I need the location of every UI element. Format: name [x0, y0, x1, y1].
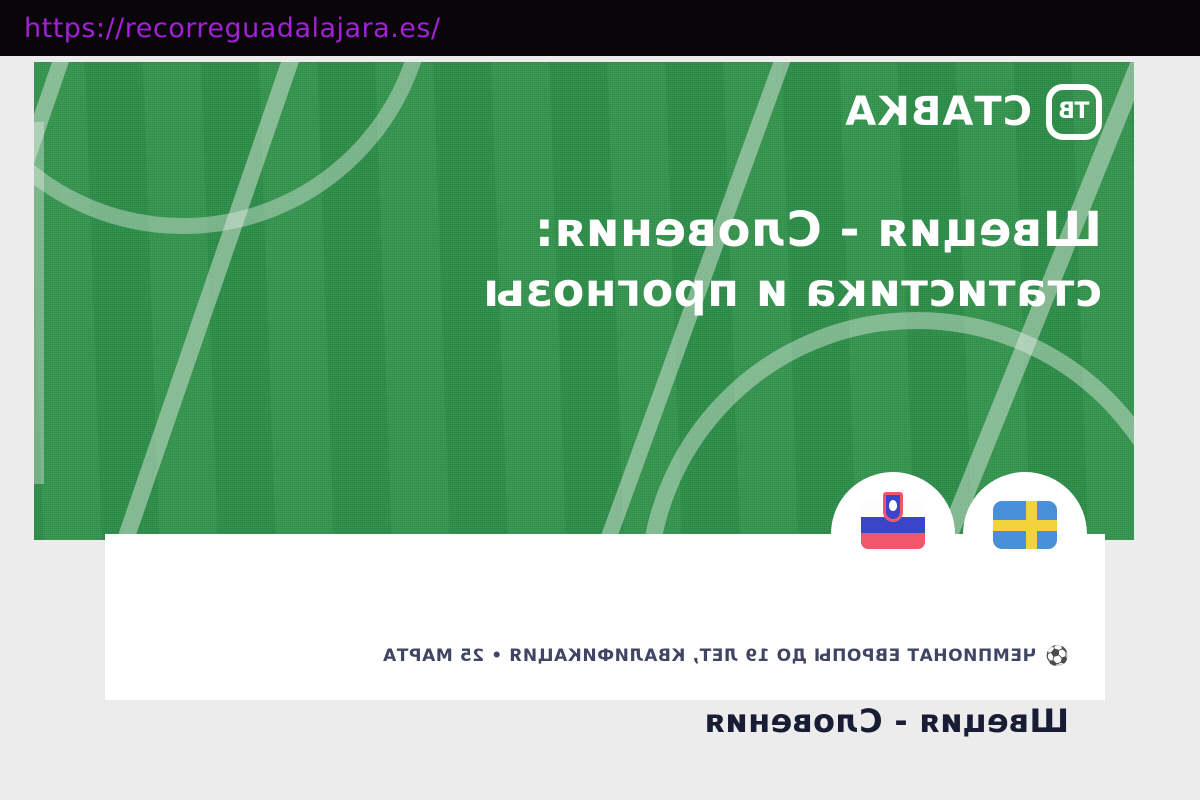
- match-card: ⚽ ЧЕМПИОНАТ ЕВРОПЫ ДО 19 ЛЕТ, КВАЛИФИКАЦ…: [105, 534, 1105, 700]
- tv-logo-text: ТВ: [1059, 101, 1090, 123]
- page-title: Швеция - Словения:: [102, 202, 1102, 259]
- match-title: Швеция - Словения: [704, 702, 1069, 740]
- hero-banner: ТВ СТАВКА Швеция - Словения: статистика …: [34, 62, 1134, 540]
- browser-url-bar[interactable]: https://recorreguadalajara.es/: [0, 0, 1200, 56]
- hero-text-block: Швеция - Словения: статистика и прогнозы: [102, 202, 1102, 317]
- browser-viewport: ТВ СТАВКА Швеция - Словения: статистика …: [0, 56, 1200, 800]
- url-text[interactable]: https://recorreguadalajara.es/: [0, 13, 441, 44]
- site-logo[interactable]: ТВ СТАВКА: [844, 84, 1102, 140]
- slovenia-flag-icon: [861, 501, 925, 549]
- page-subtitle: статистика и прогнозы: [102, 263, 1102, 317]
- site-name: СТАВКА: [844, 92, 1032, 132]
- sweden-flag-icon: [993, 501, 1057, 549]
- match-competition-label: ЧЕМПИОНАТ ЕВРОПЫ ДО 19 ЛЕТ, КВАЛИФИКАЦИЯ…: [382, 646, 1036, 666]
- tv-logo-icon: ТВ: [1046, 84, 1102, 140]
- match-meta-row: ⚽ ЧЕМПИОНАТ ЕВРОПЫ ДО 19 ЛЕТ, КВАЛИФИКАЦ…: [382, 646, 1069, 666]
- slovenia-flag-crest-icon: [883, 492, 903, 522]
- team-flag-slovenia: [859, 500, 927, 550]
- web-page-mirrored: ТВ СТАВКА Швеция - Словения: статистика …: [0, 56, 1200, 800]
- slovenia-flag-band-red: [861, 533, 925, 549]
- sweden-flag-cross-horizontal: [993, 520, 1057, 531]
- pitch-penalty-box: [34, 122, 44, 484]
- team-flag-sweden: [991, 500, 1059, 550]
- soccer-ball-icon: ⚽: [1045, 647, 1069, 666]
